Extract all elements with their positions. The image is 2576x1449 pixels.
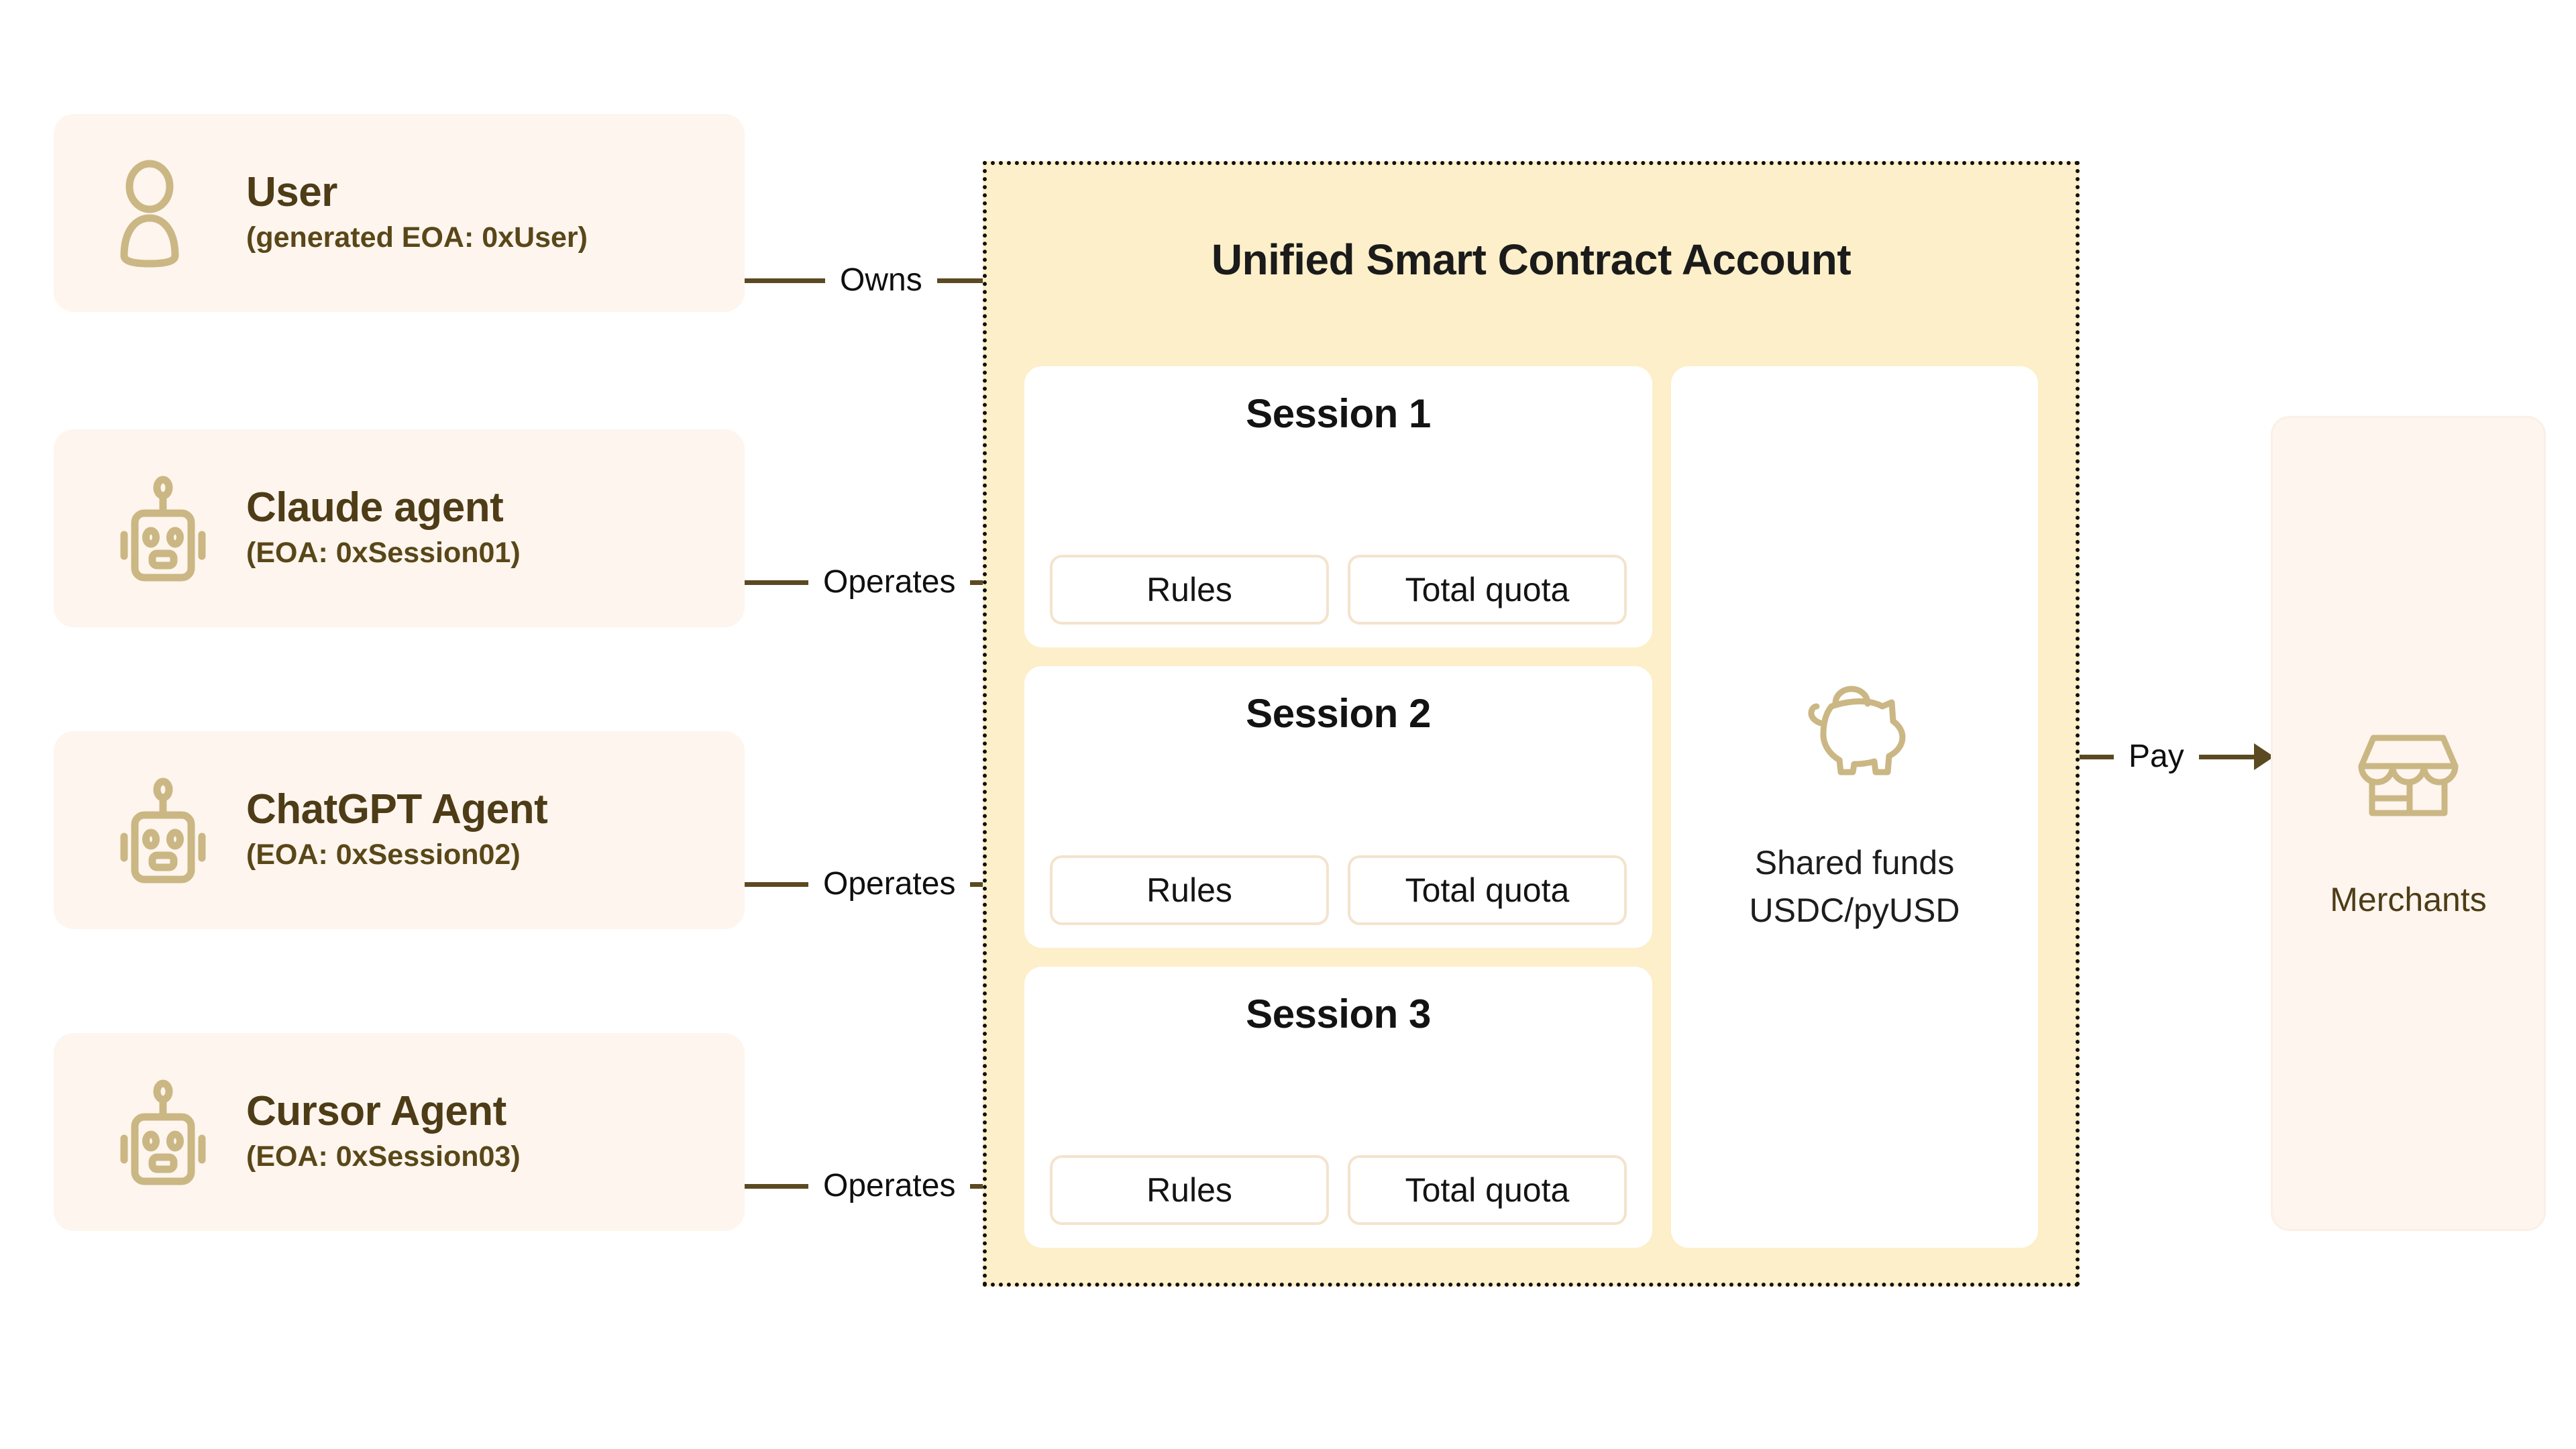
- account-body: Session 1 Rules Total quota Session 2 Ru…: [1024, 366, 2038, 1248]
- total-quota-button[interactable]: Total quota: [1348, 1155, 1627, 1225]
- actor-card-cursor-agent[interactable]: Cursor Agent (EOA: 0xSession03): [54, 1033, 745, 1231]
- merchants-label: Merchants: [2330, 880, 2486, 919]
- shared-funds-line1: Shared funds: [1750, 839, 1960, 887]
- session-card-1[interactable]: Session 1 Rules Total quota: [1024, 366, 1652, 647]
- robot-icon: [117, 1075, 218, 1189]
- session-pill-group: Rules Total quota: [1050, 1155, 1627, 1225]
- session-pill-group: Rules Total quota: [1050, 855, 1627, 925]
- connector-line: [745, 882, 808, 887]
- session-pill-group: Rules Total quota: [1050, 555, 1627, 625]
- actor-card-claude-agent[interactable]: Claude agent (EOA: 0xSession01): [54, 429, 745, 627]
- merchants-card[interactable]: Merchants: [2271, 416, 2546, 1231]
- actor-text: Cursor Agent (EOA: 0xSession03): [246, 1089, 521, 1175]
- session-card-2[interactable]: Session 2 Rules Total quota: [1024, 666, 1652, 947]
- connector-label: Operates: [808, 868, 970, 900]
- total-quota-button[interactable]: Total quota: [1348, 555, 1627, 625]
- actor-text: ChatGPT Agent (EOA: 0xSession02): [246, 788, 547, 873]
- connector-label: Operates: [808, 1170, 970, 1202]
- actor-title: ChatGPT Agent: [246, 788, 547, 831]
- actor-card-chatgpt-agent[interactable]: ChatGPT Agent (EOA: 0xSession02): [54, 731, 745, 929]
- rules-button[interactable]: Rules: [1050, 555, 1329, 625]
- shared-funds-card[interactable]: Shared funds USDC/pyUSD: [1671, 366, 2038, 1248]
- diagram-canvas: User (generated EOA: 0xUser) Claude agen…: [0, 0, 2576, 1449]
- connector-label: Operates: [808, 566, 970, 598]
- session-title: Session 2: [1246, 690, 1431, 737]
- session-title: Session 1: [1246, 390, 1431, 437]
- actor-subtitle: (EOA: 0xSession01): [246, 536, 521, 571]
- connector-arrow: [2199, 743, 2274, 770]
- actor-subtitle: (generated EOA: 0xUser): [246, 221, 588, 256]
- user-icon: [117, 156, 218, 270]
- actor-subtitle: (EOA: 0xSession03): [246, 1140, 521, 1175]
- actor-card-user[interactable]: User (generated EOA: 0xUser): [54, 114, 745, 312]
- shared-funds-line2: USDC/pyUSD: [1750, 887, 1960, 934]
- account-title: Unified Smart Contract Account: [987, 235, 2076, 284]
- storefront-icon: [2355, 729, 2462, 822]
- connector-label: Pay: [2114, 741, 2199, 773]
- robot-icon: [117, 472, 218, 586]
- sessions-column: Session 1 Rules Total quota Session 2 Ru…: [1024, 366, 1652, 1248]
- connector-label: Owns: [825, 264, 937, 297]
- session-card-3[interactable]: Session 3 Rules Total quota: [1024, 967, 1652, 1248]
- connector-line: [745, 1184, 808, 1189]
- rules-button[interactable]: Rules: [1050, 1155, 1329, 1225]
- actor-title: User: [246, 170, 588, 214]
- actor-text: User (generated EOA: 0xUser): [246, 170, 588, 256]
- total-quota-button[interactable]: Total quota: [1348, 855, 1627, 925]
- connector-line: [745, 278, 825, 283]
- actor-title: Claude agent: [246, 486, 521, 529]
- session-title: Session 3: [1246, 991, 1431, 1037]
- connector-pay: Pay: [2077, 730, 2274, 784]
- unified-smart-contract-account: Unified Smart Contract Account Session 1…: [983, 161, 2080, 1287]
- connector-line: [745, 580, 808, 585]
- rules-button[interactable]: Rules: [1050, 855, 1329, 925]
- actor-text: Claude agent (EOA: 0xSession01): [246, 486, 521, 571]
- piggy-bank-icon: [1791, 680, 1919, 787]
- connector-line: [2077, 755, 2114, 759]
- actor-title: Cursor Agent: [246, 1089, 521, 1133]
- actor-subtitle: (EOA: 0xSession02): [246, 838, 547, 873]
- robot-icon: [117, 773, 218, 888]
- shared-funds-label: Shared funds USDC/pyUSD: [1750, 839, 1960, 934]
